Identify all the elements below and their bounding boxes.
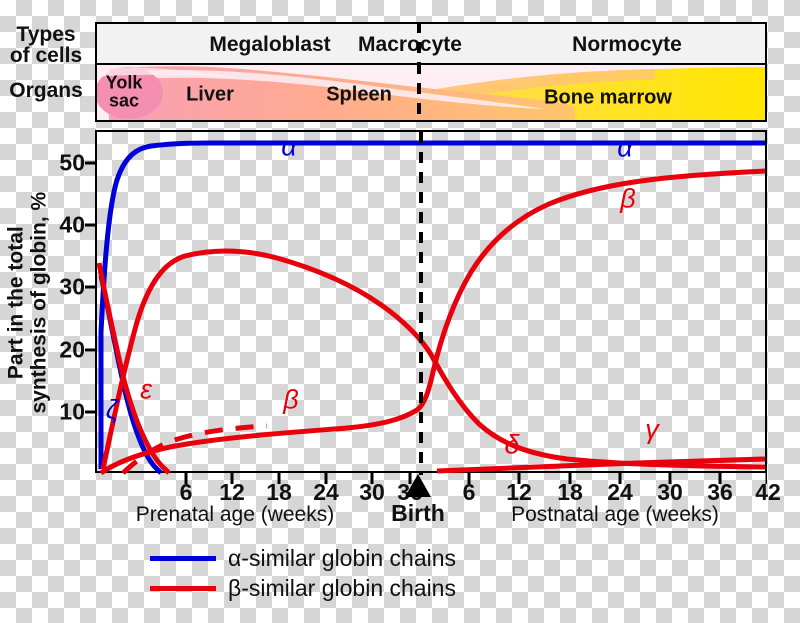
y-tick-50: 50 [39,149,85,176]
x-axis-tickmarks [95,473,767,485]
legend-label-beta: β-similar globin chains [228,575,456,602]
y-tickmark-10 [85,410,95,413]
curve-label-beta-left: β [283,385,298,416]
organ-bone-marrow: Bone marrow [544,87,672,110]
curve-alpha [101,143,765,469]
organ-yolk-sac: Yolk sac [106,74,143,109]
legend-label-alpha: α-similar globin chains [228,545,456,572]
curve-label-alpha-left: α [281,132,296,163]
y-axis-title-line1: Part in the total [5,0,28,623]
organs-band: Yolk sac Liver Spleen Bone marrow [95,65,767,122]
y-tick-20: 20 [39,336,85,363]
x-axis-title-postnatal: Postnatal age (weeks) [511,503,719,527]
y-tickmark-30 [85,286,95,289]
organ-spleen: Spleen [326,84,392,107]
organ-liver: Liver [186,84,234,107]
y-axis-ticks: 10 20 30 40 50 [33,130,85,473]
curve-label-beta-right: β [620,184,635,215]
legend: α-similar globin chains β-similar globin… [150,543,456,603]
legend-item-beta: β-similar globin chains [150,573,456,603]
cell-band-birth-divider [95,22,767,65]
curve-label-alpha-right: α [617,133,632,164]
legend-swatch-beta [150,586,216,591]
y-tick-30: 30 [39,274,85,301]
curves-svg [97,132,769,475]
y-tickmark-20 [85,348,95,351]
curve-label-epsilon: ε [140,375,152,406]
legend-item-alpha: α-similar globin chains [150,543,456,573]
y-tick-10: 10 [39,398,85,425]
curve-label-delta: δ [504,430,519,461]
curve-label-gamma: γ [645,415,659,446]
birth-label: Birth [391,500,445,527]
birth-arrow-icon [405,474,431,497]
chart-root: Types of cells Organs Megaloblast Macroc… [0,0,800,611]
legend-swatch-alpha [150,556,216,561]
curve-beta [101,171,765,473]
x-axis-title-prenatal: Prenatal age (weeks) [136,503,334,527]
y-tick-40: 40 [39,211,85,238]
y-tickmark-50 [85,161,95,164]
plot-area [95,130,767,473]
cell-types-band: Megaloblast Macrocyte Normocyte [95,22,767,65]
organ-yolk-sac-line2: sac [109,90,139,110]
curve-label-zeta: ζ [106,395,119,426]
y-tickmark-40 [85,223,95,226]
